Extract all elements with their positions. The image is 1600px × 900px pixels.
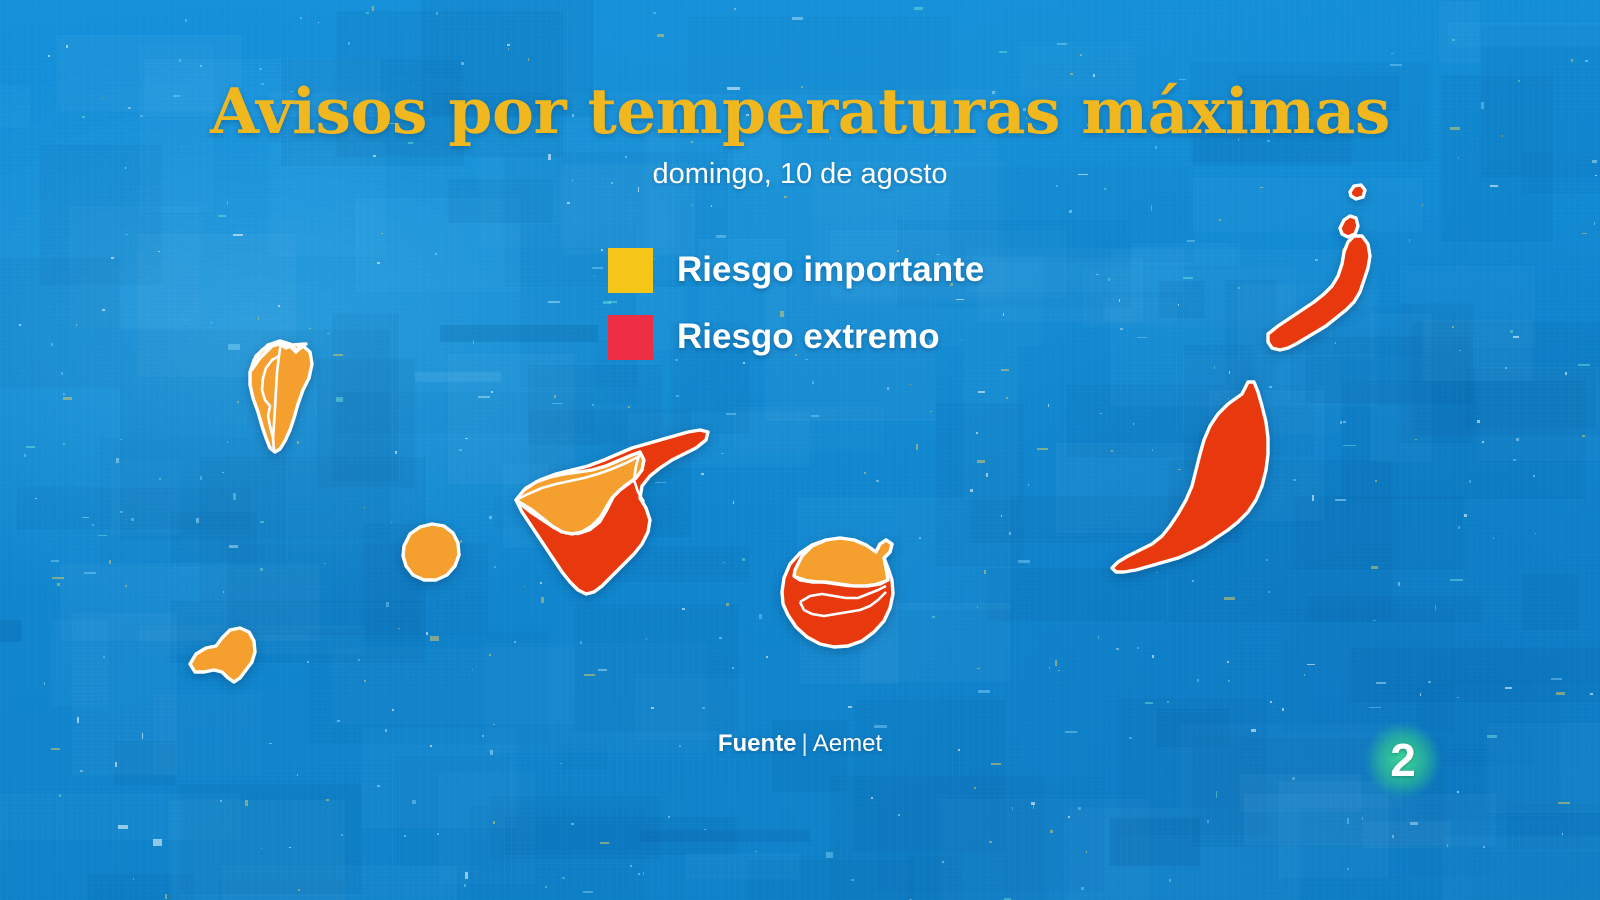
legend-swatch-importante bbox=[608, 248, 653, 293]
source-separator: | bbox=[802, 730, 808, 757]
source-credit: Fuente|Aemet bbox=[0, 730, 1600, 758]
legend-item-importante[interactable]: Riesgo importante bbox=[608, 244, 984, 296]
logo-number: 2 bbox=[1390, 737, 1416, 783]
island-la-palma[interactable] bbox=[250, 341, 312, 452]
island-fuerteventura[interactable] bbox=[1112, 382, 1268, 572]
island-tenerife[interactable] bbox=[516, 430, 708, 594]
island-lanzarote[interactable] bbox=[1268, 236, 1370, 350]
channel-logo-la2: 2 bbox=[1364, 724, 1442, 796]
island-la-gomera[interactable] bbox=[403, 524, 459, 580]
page-subtitle: domingo, 10 de agosto bbox=[0, 158, 1600, 191]
island-gran-canaria[interactable] bbox=[782, 538, 893, 647]
legend-swatch-extremo bbox=[608, 315, 653, 360]
legend-label-extremo: Riesgo extremo bbox=[677, 317, 940, 357]
risk-legend: Riesgo importante Riesgo extremo bbox=[608, 244, 984, 378]
island-el-hierro[interactable] bbox=[190, 628, 255, 682]
page-title: Avisos por temperaturas máximas bbox=[0, 74, 1600, 148]
legend-label-importante: Riesgo importante bbox=[677, 250, 984, 290]
island-la-graciosa[interactable] bbox=[1340, 216, 1358, 237]
source-label: Fuente bbox=[718, 730, 797, 757]
source-value: Aemet bbox=[813, 730, 882, 757]
weather-graphic: Avisos por temperaturas máximas domingo,… bbox=[0, 0, 1600, 900]
legend-item-extremo[interactable]: Riesgo extremo bbox=[608, 311, 984, 363]
